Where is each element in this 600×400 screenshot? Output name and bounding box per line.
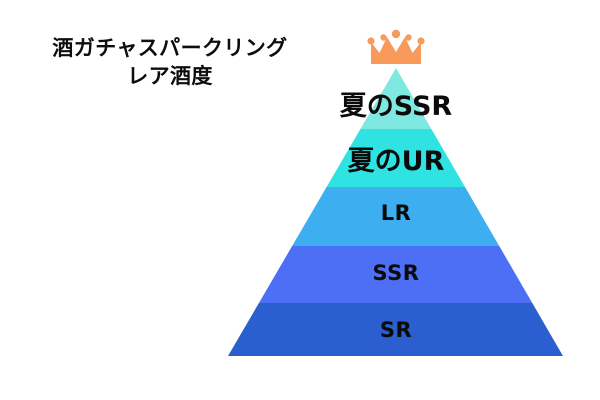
pyramid-tier-2[interactable] [327,129,465,187]
crown-body [371,37,421,64]
pyramid-svg [0,0,600,400]
pyramid-tier-1[interactable] [360,68,431,129]
pyramid-tier-3[interactable] [292,187,499,246]
pyramid-tier-4[interactable] [259,246,532,303]
pyramid-chart-canvas: 酒ガチャスパークリング レア酒度 夏のSSR 夏のUR LR SSR SR [0,0,600,400]
crown-tip-2 [380,34,386,40]
crown-icon [366,28,426,68]
pyramid-diagram: 夏のSSR 夏のUR LR SSR SR [0,0,600,400]
crown-tip-5 [417,37,424,44]
crown-svg [366,28,426,68]
pyramid-tier-5[interactable] [228,303,563,356]
crown-tip-4 [405,34,411,40]
crown-tip-3 [392,30,400,38]
crown-tip-1 [367,37,374,44]
